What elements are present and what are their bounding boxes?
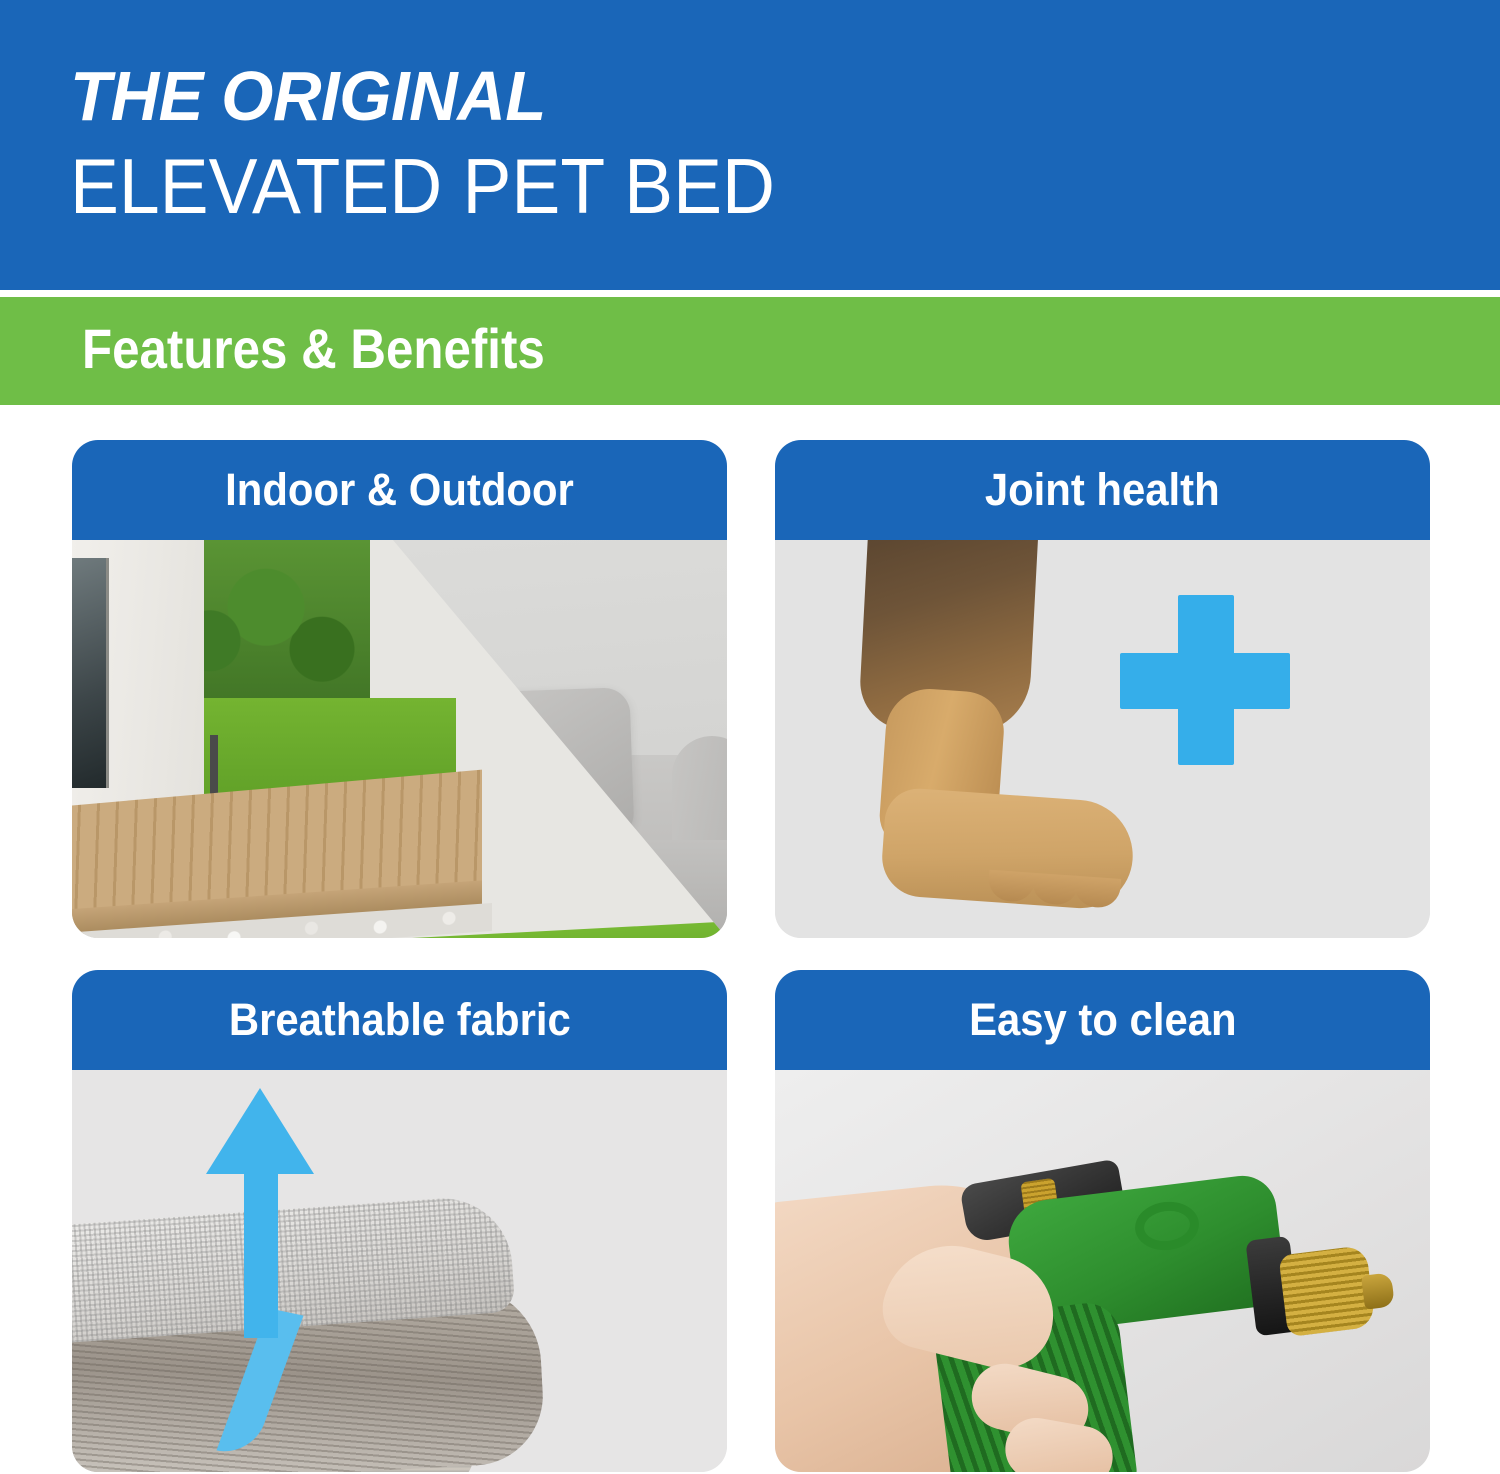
feature-card-image-joint-health (775, 540, 1430, 938)
paw-toe (987, 870, 1035, 903)
house-window (72, 558, 109, 788)
features-section-heading: Features & Benefits (82, 313, 545, 385)
arrow-head (206, 1088, 314, 1174)
nozzle-brass-head (1278, 1245, 1375, 1337)
feature-card-title: Indoor & Outdoor (225, 465, 574, 515)
garden-post (210, 735, 218, 797)
indoor-outdoor-split-scene (72, 540, 727, 938)
feature-card-title: Breathable fabric (229, 995, 571, 1045)
feature-card-header: Breathable fabric (72, 970, 727, 1070)
feature-card-grid: Indoor & Outdoor (0, 440, 1500, 1474)
paw-toe (1031, 873, 1079, 906)
feature-card-title: Easy to clean (969, 995, 1237, 1045)
nozzle-spray-tip (1361, 1272, 1395, 1309)
feature-card-header: Indoor & Outdoor (72, 440, 727, 540)
arrow-shaft (244, 1164, 278, 1338)
feature-card-joint-health: Joint health (775, 440, 1430, 938)
feature-card-image-breathable-fabric (72, 1070, 727, 1472)
feature-card-image-easy-to-clean (775, 1070, 1430, 1472)
feature-card-indoor-outdoor: Indoor & Outdoor (72, 440, 727, 938)
dog-paw-scene (775, 540, 1430, 938)
features-section-band: Features & Benefits (0, 297, 1500, 405)
product-header-banner: THE ORIGINAL ELEVATED PET BED (0, 0, 1500, 290)
feature-card-image-indoor-outdoor (72, 540, 727, 938)
feature-card-easy-to-clean: Easy to clean (775, 970, 1430, 1472)
mesh-fabric-scene (72, 1070, 727, 1472)
feature-card-header: Joint health (775, 440, 1430, 540)
product-title-line-1: THE ORIGINAL (70, 58, 546, 134)
feature-card-header: Easy to clean (775, 970, 1430, 1070)
feature-card-title: Joint health (985, 465, 1220, 515)
dog-paw (880, 786, 1137, 911)
product-title-line-2: ELEVATED PET BED (70, 144, 775, 228)
paw-toe (1073, 876, 1121, 909)
feature-card-breathable-fabric: Breathable fabric (72, 970, 727, 1472)
medical-cross-icon (1120, 595, 1290, 765)
hose-nozzle-scene (775, 1070, 1430, 1472)
airflow-up-arrow-icon (200, 1088, 310, 1338)
